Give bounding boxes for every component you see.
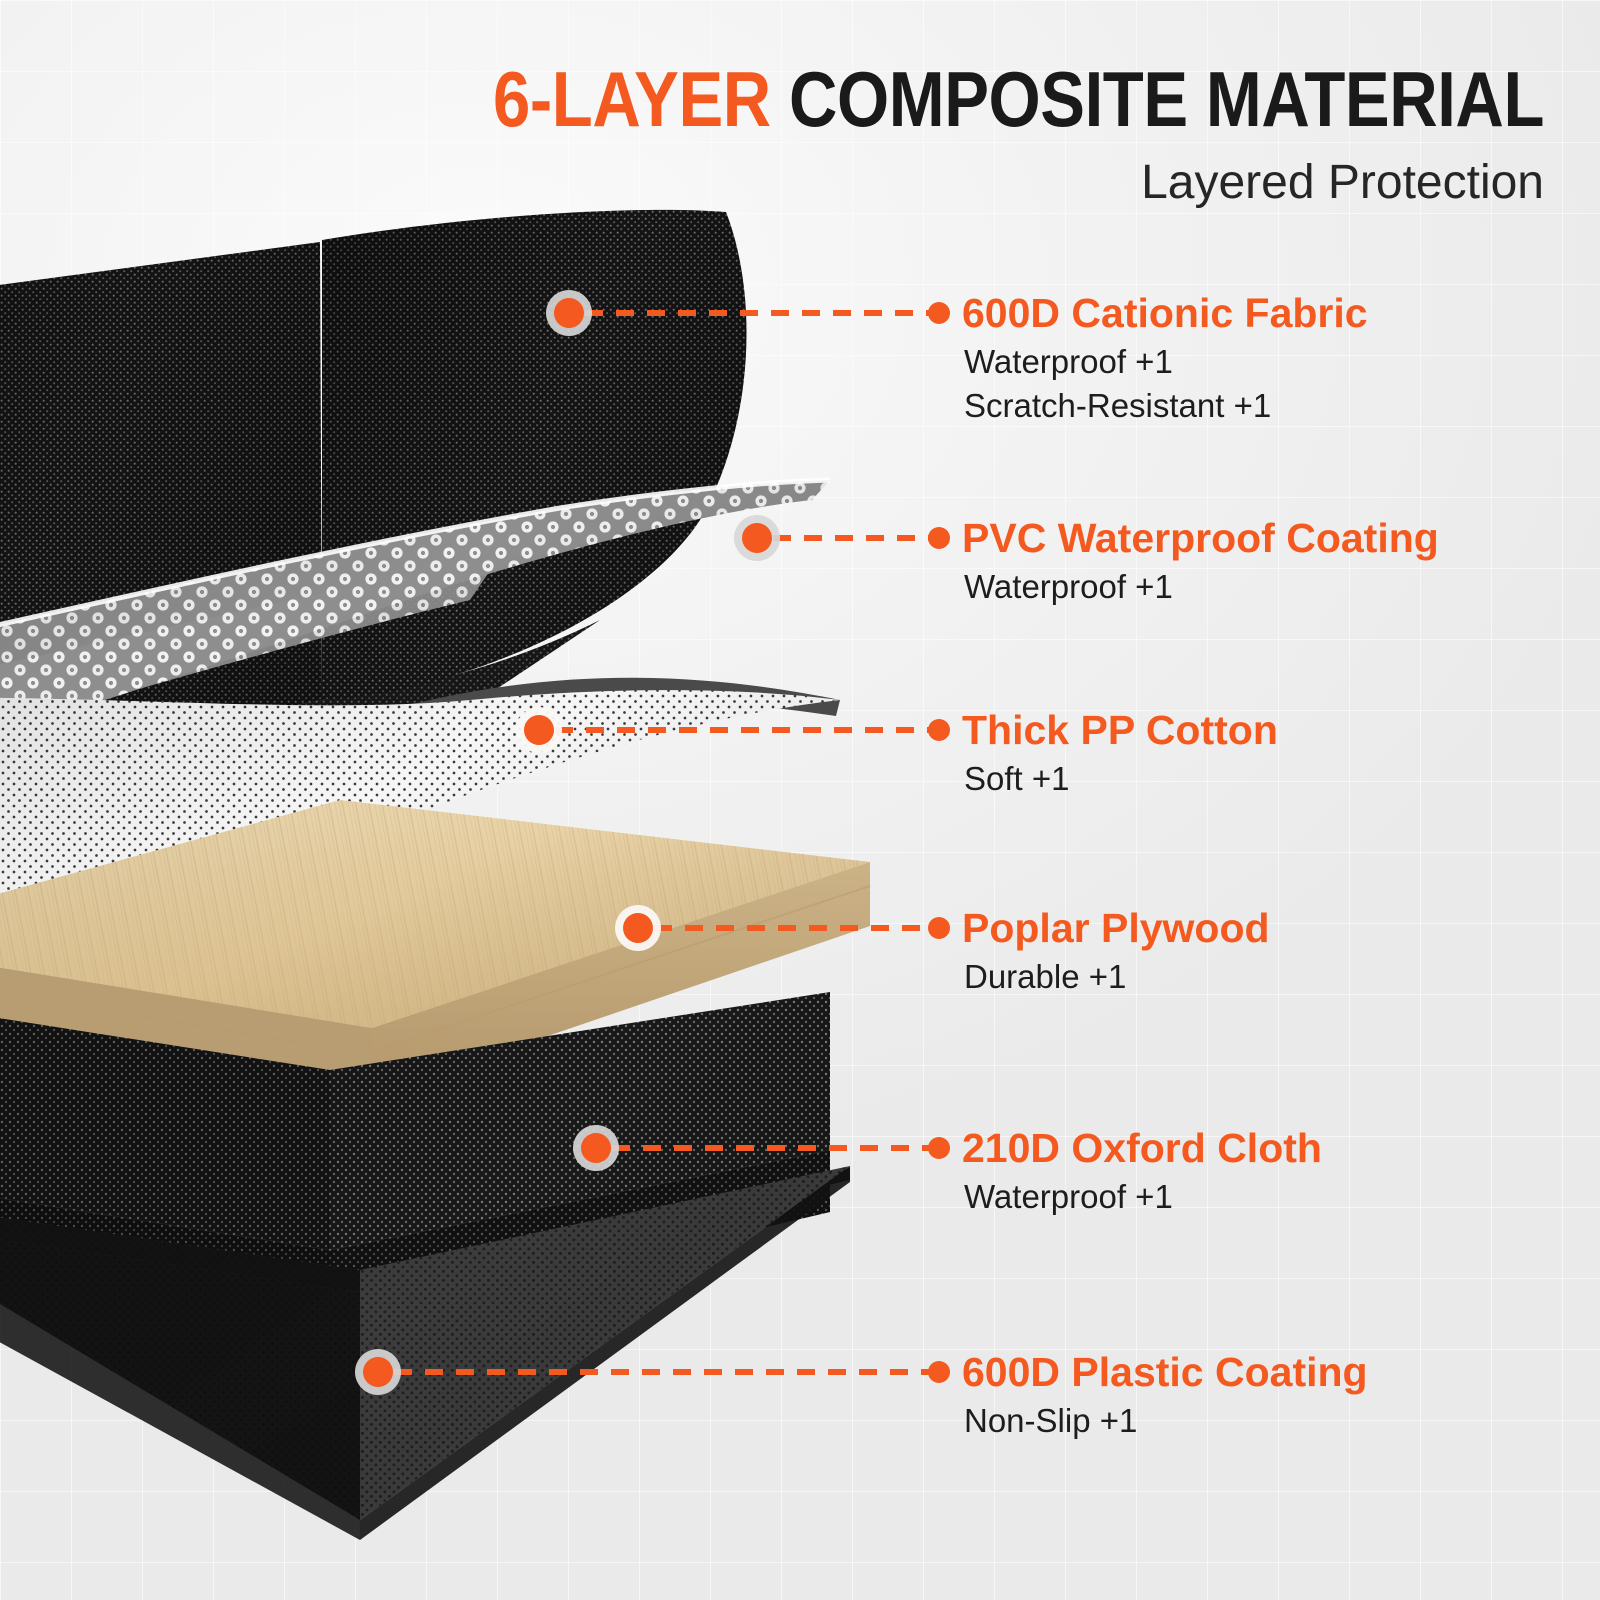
- callout-thick-pp-cotton[interactable]: Thick PP Cotton Soft +1: [962, 707, 1278, 801]
- endpoint-dot-1: [928, 302, 950, 324]
- layer-stack-illustration: [0, 0, 1000, 1600]
- callout-title-2: PVC Waterproof Coating: [962, 515, 1439, 561]
- source-dot-2: [742, 523, 772, 553]
- source-dot-4: [623, 913, 653, 943]
- callout-title-6: 600D Plastic Coating: [962, 1349, 1368, 1395]
- callout-feature-2-1: Waterproof +1: [962, 565, 1439, 609]
- callout-feature-3-1: Soft +1: [962, 757, 1278, 801]
- callout-600d-cationic-fabric[interactable]: 600D Cationic Fabric Waterproof +1 Scrat…: [962, 290, 1368, 428]
- callout-feature-4-1: Durable +1: [962, 955, 1270, 999]
- callout-title-5: 210D Oxford Cloth: [962, 1125, 1322, 1171]
- leader-line-3: [555, 727, 935, 733]
- callout-feature-1-2: Scratch-Resistant +1: [962, 384, 1368, 428]
- callout-600d-plastic-coating[interactable]: 600D Plastic Coating Non-Slip +1: [962, 1349, 1368, 1443]
- leader-line-4: [654, 925, 935, 931]
- infographic-canvas: 6-LAYER COMPOSITE MATERIAL Layered Prote…: [0, 0, 1600, 1600]
- leader-line-6: [394, 1369, 935, 1375]
- endpoint-dot-3: [928, 719, 950, 741]
- endpoint-dot-5: [928, 1137, 950, 1159]
- leader-dash-4: [654, 925, 935, 931]
- endpoint-dot-4: [928, 917, 950, 939]
- callout-poplar-plywood[interactable]: Poplar Plywood Durable +1: [962, 905, 1270, 999]
- leader-line-2: [773, 535, 935, 541]
- callout-feature-5-1: Waterproof +1: [962, 1175, 1322, 1219]
- callout-title-1: 600D Cationic Fabric: [962, 290, 1368, 336]
- callout-title-3: Thick PP Cotton: [962, 707, 1278, 753]
- source-dot-3: [524, 715, 554, 745]
- leader-dash-1: [585, 310, 935, 316]
- leader-dash-6: [394, 1369, 935, 1375]
- source-dot-6: [363, 1357, 393, 1387]
- leader-dash-5: [612, 1145, 935, 1151]
- callout-feature-1-1: Waterproof +1: [962, 340, 1368, 384]
- leader-line-5: [612, 1145, 935, 1151]
- endpoint-dot-6: [928, 1361, 950, 1383]
- source-dot-5: [581, 1133, 611, 1163]
- callout-feature-6-1: Non-Slip +1: [962, 1399, 1368, 1443]
- leader-line-1: [585, 310, 935, 316]
- leader-dash-2: [773, 535, 935, 541]
- endpoint-dot-2: [928, 527, 950, 549]
- leader-dash-3: [555, 727, 935, 733]
- source-dot-1: [554, 298, 584, 328]
- callout-pvc-waterproof-coating[interactable]: PVC Waterproof Coating Waterproof +1: [962, 515, 1439, 609]
- callout-210d-oxford-cloth[interactable]: 210D Oxford Cloth Waterproof +1: [962, 1125, 1322, 1219]
- callout-title-4: Poplar Plywood: [962, 905, 1270, 951]
